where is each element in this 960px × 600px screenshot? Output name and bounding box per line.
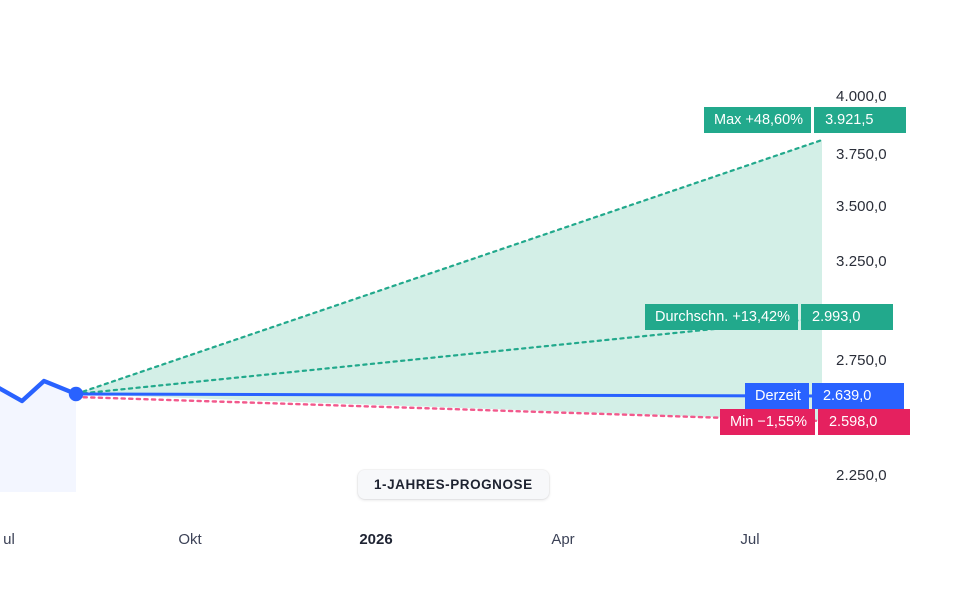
min-forecast-label: Min −1,55% — [720, 409, 815, 435]
x-axis-tick-jul-right: Jul — [740, 531, 759, 548]
x-axis-tick-apr: Apr — [551, 531, 574, 548]
average-forecast-value: 2.993,0 — [801, 304, 893, 330]
forecast-chart-plot[interactable] — [0, 0, 960, 600]
average-forecast-label: Durchschn. +13,42% — [645, 304, 798, 330]
forecast-period-pill[interactable]: 1-JAHRES-PROGNOSE — [358, 470, 549, 499]
max-forecast-value: 3.921,5 — [814, 107, 906, 133]
y-axis-tick-2250: 2.250,0 — [836, 467, 887, 484]
forecast-period-label: 1-JAHRES-PROGNOSE — [374, 477, 533, 492]
forecast-cone-area — [76, 140, 822, 421]
historic-area-fill — [0, 381, 76, 492]
x-axis-tick-okt: Okt — [178, 531, 201, 548]
y-axis-tick-4000: 4.000,0 — [836, 88, 887, 105]
current-price-value: 2.639,0 — [812, 383, 904, 409]
current-price-marker[interactable] — [69, 387, 83, 401]
y-axis-tick-3250: 3.250,0 — [836, 253, 887, 270]
chart-svg — [0, 0, 960, 600]
y-axis-tick-3750: 3.750,0 — [836, 146, 887, 163]
current-price-line — [76, 394, 822, 396]
min-forecast-value: 2.598,0 — [818, 409, 910, 435]
max-forecast-label: Max +48,60% — [704, 107, 811, 133]
chart-screenshot: 4.000,0 3.750,0 3.500,0 3.250,0 2.750,0 … — [0, 0, 960, 600]
y-axis-tick-3500: 3.500,0 — [836, 198, 887, 215]
average-forecast-badge[interactable]: Durchschn. +13,42% 2.993,0 — [645, 304, 893, 330]
max-forecast-badge[interactable]: Max +48,60% 3.921,5 — [704, 107, 906, 133]
x-axis-tick-2026: 2026 — [359, 531, 392, 548]
x-axis-tick-jul-left: ul — [3, 531, 15, 548]
current-price-badge[interactable]: Derzeit 2.639,0 — [745, 383, 904, 409]
min-forecast-badge[interactable]: Min −1,55% 2.598,0 — [720, 409, 910, 435]
current-price-label: Derzeit — [745, 383, 809, 409]
y-axis-tick-2750: 2.750,0 — [836, 352, 887, 369]
